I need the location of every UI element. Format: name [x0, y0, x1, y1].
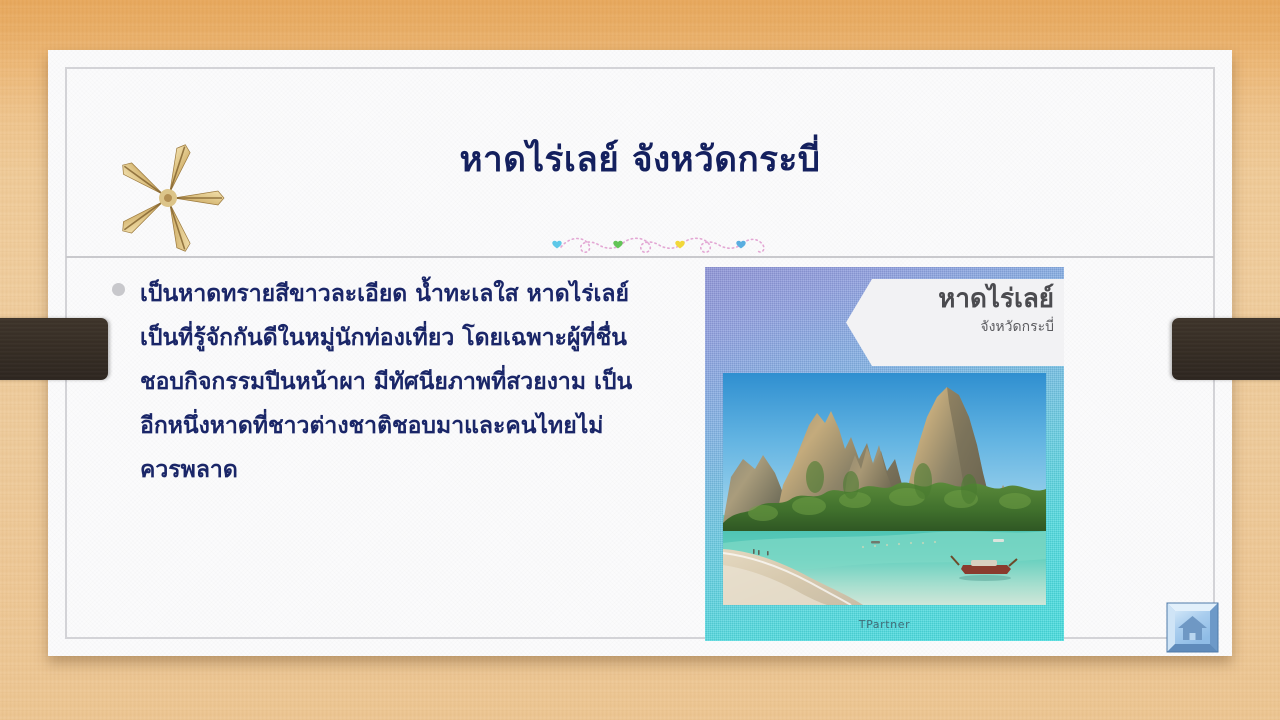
list-item: เป็นหาดทรายสีขาวละเอียด น้ำทะเลใส หาดไร่…	[104, 272, 634, 492]
decorative-strap-left	[0, 318, 108, 380]
photo-card[interactable]: หาดไร่เลย์ จังหวัดกระบี่	[705, 267, 1064, 641]
decorative-strap-right	[1172, 318, 1280, 380]
photo-label-banner: หาดไร่เลย์ จังหวัดกระบี่	[846, 279, 1064, 366]
photo-label-sub: จังหวัดกระบี่	[886, 318, 1054, 336]
dotted-swirl-ornament-icon	[545, 231, 773, 257]
bullet-marker-icon	[112, 283, 125, 296]
home-button[interactable]	[1166, 602, 1219, 653]
body-text-column: เป็นหาดทรายสีขาวละเอียด น้ำทะเลใส หาดไร่…	[104, 272, 634, 492]
railay-beach-photo	[723, 373, 1046, 605]
photo-label-main: หาดไร่เลย์	[886, 285, 1054, 315]
page-title: หาดไร่เลย์ จังหวัดกระบี่	[150, 139, 1130, 183]
body-paragraph: เป็นหาดทรายสีขาวละเอียด น้ำทะเลใส หาดไร่…	[140, 272, 634, 492]
slide-root: หาดไร่เลย์ จังหวัดกระบี่ เป็นหาดทรายสีขา…	[0, 0, 1280, 720]
photo-watermark: TPartner	[705, 618, 1064, 631]
